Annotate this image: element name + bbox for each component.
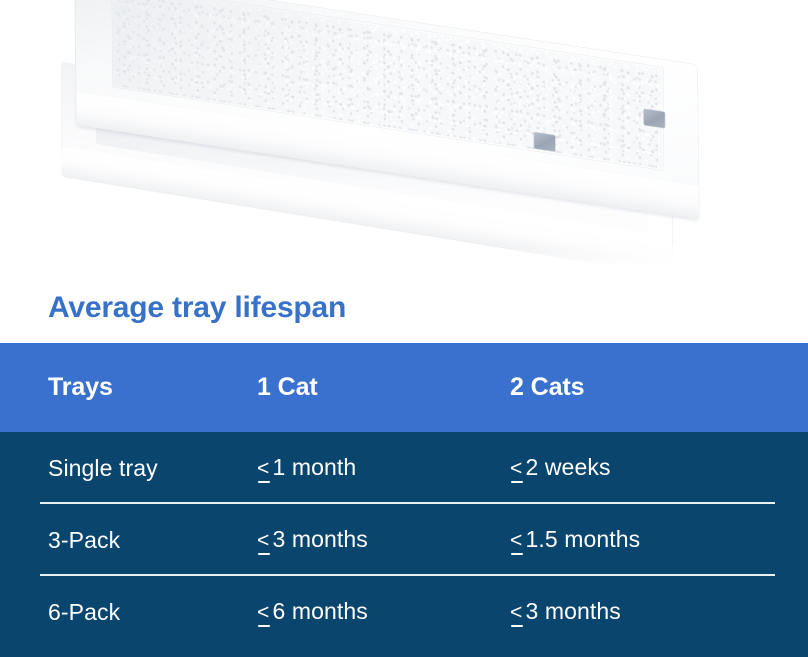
infographic-page: Average tray lifespan Trays 1 Cat 2 Cats… xyxy=(0,0,808,657)
cell-two-cats-value: 1.5 months xyxy=(525,526,640,552)
cell-one-cat-value: 6 months xyxy=(272,598,367,624)
product-photo xyxy=(0,0,808,272)
cell-two-cats: <1.5 months xyxy=(510,526,808,555)
cell-two-cats-value: 2 weeks xyxy=(525,454,610,480)
cell-one-cat-value: 1 month xyxy=(272,454,356,480)
adhesive-tab-icon-left xyxy=(534,132,555,151)
table-body: Single tray <1 month <2 weeks 3-Pack <3 … xyxy=(0,432,808,657)
less-than-or-equal-icon: < xyxy=(510,598,522,627)
page-title: Average tray lifespan xyxy=(0,293,346,323)
less-than-or-equal-icon: < xyxy=(257,598,269,627)
table-row: 6-Pack <6 months <3 months xyxy=(0,576,808,648)
table-row: 3-Pack <3 months <1.5 months xyxy=(0,504,808,576)
cell-one-cat: <6 months xyxy=(257,598,510,627)
tray-scene xyxy=(0,0,808,272)
cell-trays: 3-Pack xyxy=(0,527,257,554)
column-header-two-cats: 2 Cats xyxy=(510,373,808,402)
photo-bottom-fade xyxy=(0,246,808,272)
less-than-or-equal-icon: < xyxy=(257,526,269,555)
cell-one-cat-value: 3 months xyxy=(272,526,367,552)
column-header-trays: Trays xyxy=(0,373,257,402)
table-row: Single tray <1 month <2 weeks xyxy=(0,432,808,504)
cell-trays: 6-Pack xyxy=(0,599,257,626)
cell-two-cats-value: 3 months xyxy=(525,598,620,624)
cell-trays: Single tray xyxy=(0,455,257,482)
less-than-or-equal-icon: < xyxy=(257,454,269,483)
adhesive-tab-icon-right xyxy=(644,109,665,128)
table-header-row: Trays 1 Cat 2 Cats xyxy=(0,343,808,432)
cell-one-cat: <3 months xyxy=(257,526,510,555)
lifespan-table: Trays 1 Cat 2 Cats Single tray <1 month … xyxy=(0,343,808,657)
cell-two-cats: <2 weeks xyxy=(510,454,808,483)
less-than-or-equal-icon: < xyxy=(510,526,522,555)
less-than-or-equal-icon: < xyxy=(510,454,522,483)
cell-two-cats: <3 months xyxy=(510,598,808,627)
column-header-one-cat: 1 Cat xyxy=(257,373,510,402)
cell-one-cat: <1 month xyxy=(257,454,510,483)
title-band: Average tray lifespan xyxy=(0,272,808,343)
